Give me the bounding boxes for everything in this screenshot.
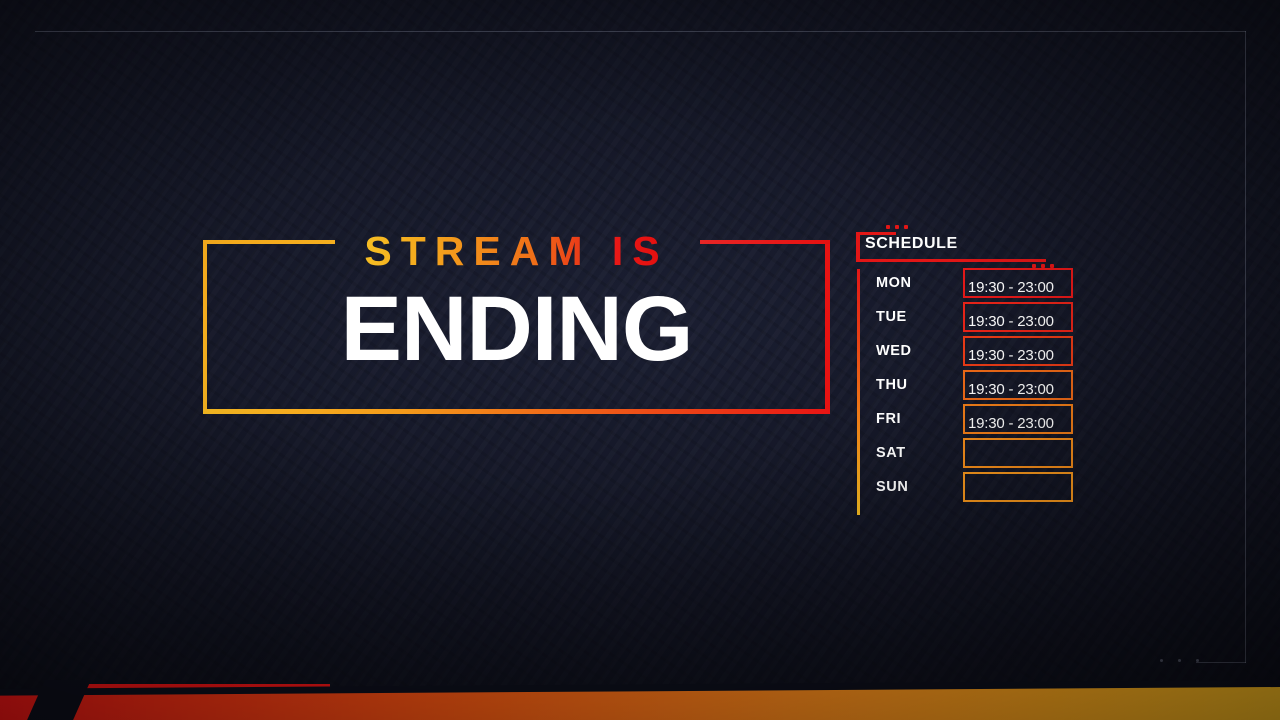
schedule-day-label: TUE [876, 309, 907, 325]
schedule-day-label: SUN [876, 479, 908, 495]
schedule-day-label: SAT [876, 445, 906, 461]
table-row: THU 19:30 - 23:00 [876, 368, 1056, 402]
schedule-time-slot[interactable]: 19:30 - 23:00 [963, 268, 1073, 298]
schedule-rows: MON 19:30 - 23:00 TUE 19:30 - 23:00 WED … [876, 266, 1056, 504]
table-row: MON 19:30 - 23:00 [876, 266, 1056, 300]
table-row: TUE 19:30 - 23:00 [876, 300, 1056, 334]
frame-dot-icon [1178, 659, 1181, 662]
schedule-time-value: 19:30 - 23:00 [968, 279, 1054, 296]
table-row: SAT [876, 436, 1056, 470]
schedule-dot-icon [895, 225, 899, 229]
schedule-time-value: 19:30 - 23:00 [968, 415, 1054, 432]
schedule-time-slot[interactable]: 19:30 - 23:00 [963, 404, 1073, 434]
schedule-header-bottom-edge [856, 259, 1046, 262]
schedule-time-value: 19:30 - 23:00 [968, 313, 1054, 330]
frame-dot-icon [1196, 659, 1199, 662]
frame-dot-icon [1160, 659, 1163, 662]
frame-bottom-line [1196, 662, 1246, 663]
table-row: FRI 19:30 - 23:00 [876, 402, 1056, 436]
title-frame-bottom-edge [203, 409, 830, 414]
schedule-dot-icon [904, 225, 908, 229]
title-frame-left-edge [203, 240, 207, 414]
schedule-day-label: THU [876, 377, 908, 393]
schedule-accent-bar [857, 269, 860, 515]
schedule-title: SCHEDULE [865, 235, 958, 253]
frame-right-line [1245, 31, 1246, 663]
schedule-time-slot[interactable]: 19:30 - 23:00 [963, 336, 1073, 366]
headline-text: ENDING [341, 283, 693, 375]
schedule-time-slot[interactable] [963, 438, 1073, 468]
schedule-day-label: WED [876, 343, 912, 359]
schedule-time-slot[interactable]: 19:30 - 23:00 [963, 370, 1073, 400]
title-frame-top-right-dash [700, 240, 830, 244]
schedule-header-left-edge [856, 232, 860, 262]
schedule-time-slot[interactable]: 19:30 - 23:00 [963, 302, 1073, 332]
stream-ending-title-frame: STREAM IS ENDING [203, 240, 830, 414]
schedule-time-value: 19:30 - 23:00 [968, 381, 1054, 398]
table-row: WED 19:30 - 23:00 [876, 334, 1056, 368]
schedule-day-label: FRI [876, 411, 901, 427]
schedule-panel: SCHEDULE MON 19:30 - 23:00 TUE 19:30 - 2… [856, 232, 1056, 518]
schedule-time-value: 19:30 - 23:00 [968, 347, 1054, 364]
table-row: SUN [876, 470, 1056, 504]
schedule-day-label: MON [876, 275, 912, 291]
title-frame-right-edge [825, 240, 830, 414]
title-frame-top-left-dash [203, 240, 335, 244]
schedule-dot-icon [886, 225, 890, 229]
schedule-time-slot[interactable] [963, 472, 1073, 502]
frame-top-line [35, 31, 1246, 32]
schedule-header: SCHEDULE [856, 232, 1004, 262]
eyebrow-text: STREAM IS [350, 227, 682, 278]
